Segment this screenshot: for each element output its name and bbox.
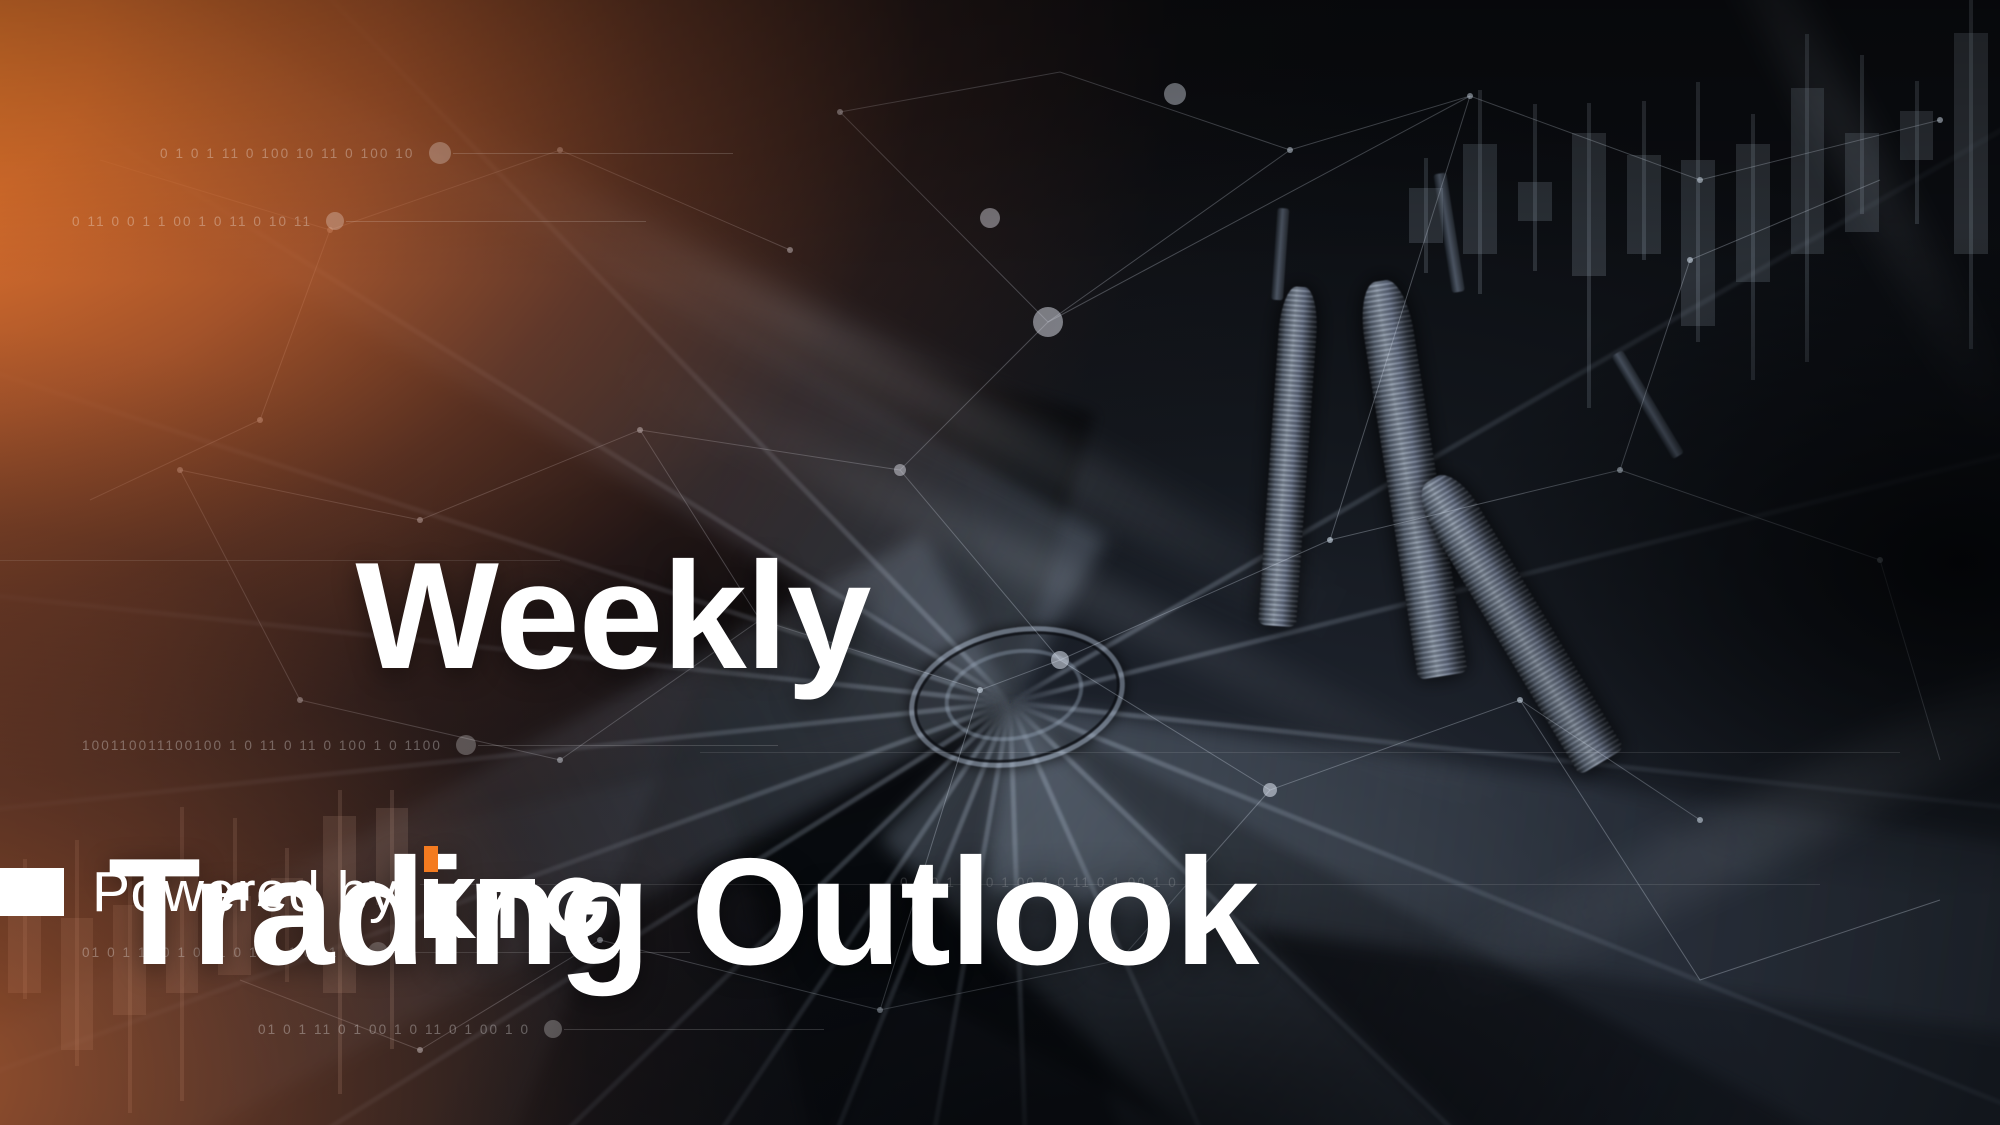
ktg-logo — [424, 846, 614, 938]
powered-by-row: Powered by — [0, 846, 614, 938]
headline-line-1: Weekly — [355, 531, 870, 701]
ktg-letter-k-arms — [433, 879, 477, 938]
powered-by-label: Powered by — [92, 864, 398, 921]
white-square-accent-icon — [0, 868, 64, 916]
banner-content: Weekly Trading Outlook Powered by — [108, 0, 1608, 1125]
ktg-letter-g — [546, 878, 607, 939]
orange-accent-bar-icon — [424, 846, 438, 872]
ktg-letter-t — [480, 879, 535, 938]
page-title: Weekly Trading Outlook — [108, 394, 1258, 1125]
weekly-trading-outlook-banner: 0 1 0 1 11 0 100 10 11 0 100 10 0 11 0 0… — [0, 0, 2000, 1125]
